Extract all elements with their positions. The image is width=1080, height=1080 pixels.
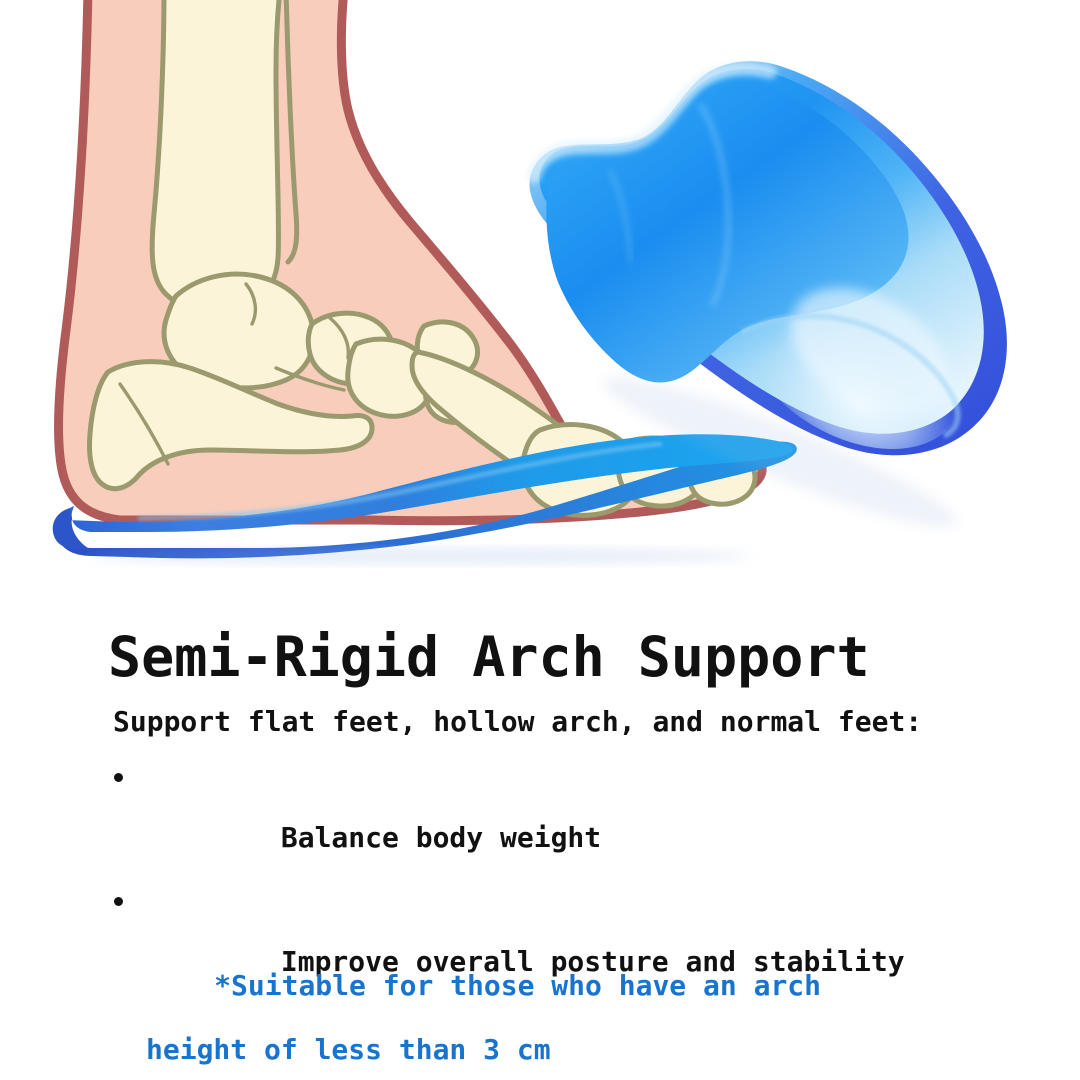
product-text-block: Semi-Rigid Arch Support Support flat fee… xyxy=(0,600,1080,1080)
foot-anatomy-illustration xyxy=(0,0,1080,600)
bullet-dot-icon xyxy=(114,897,123,906)
subtitle-text: Support flat feet, hollow arch, and norm… xyxy=(113,705,922,739)
tibia-bone xyxy=(152,0,280,312)
page-title: Semi-Rigid Arch Support xyxy=(108,624,870,690)
footnote: *Suitable for those who have an arch hei… xyxy=(113,938,821,1080)
list-item-label: Balance body weight xyxy=(281,821,601,854)
list-item: Balance body weight xyxy=(113,760,905,884)
product-info-card: Semi-Rigid Arch Support Support flat fee… xyxy=(0,0,1080,1080)
footnote-line-2: height of less than 3 cm xyxy=(113,1034,821,1066)
insole-shadow xyxy=(90,548,750,564)
footnote-line-1: *Suitable for those who have an arch xyxy=(214,969,821,1002)
bullet-dot-icon xyxy=(114,773,123,782)
